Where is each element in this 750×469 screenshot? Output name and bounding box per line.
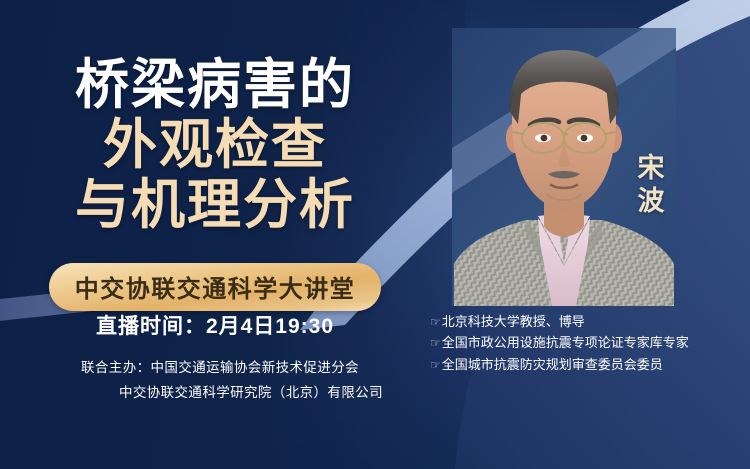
speaker-name-char-2: 波 [634, 185, 668, 218]
poster-title: 桥梁病害的 外观检查 与机理分析 [0, 58, 430, 232]
speaker-name: 宋 波 [634, 152, 668, 218]
pointing-hand-icon: ☞ [430, 334, 441, 353]
webinar-poster: 桥梁病害的 外观检查 与机理分析 中交协联交通科学大讲堂 直播时间：2月4日19… [0, 0, 750, 469]
title-line-1: 桥梁病害的 [0, 58, 430, 112]
pointing-hand-icon: ☞ [430, 313, 441, 332]
series-banner: 中交协联交通科学大讲堂 [0, 263, 430, 311]
credential-text-3: 全国城市抗震防灾规划审查委员会委员 [442, 354, 663, 375]
speaker-credentials: ☞ 北京科技大学教授、博导 ☞ 全国市政公用设施抗震专项论证专家库专家 ☞ 全国… [430, 311, 750, 375]
title-line-3: 与机理分析 [0, 178, 430, 232]
organizer-line-1: 联合主办：中国交通运输协会新技术促进分会 [0, 356, 440, 381]
credential-row-2: ☞ 全国市政公用设施抗震专项论证专家库专家 [430, 332, 750, 353]
title-line-2: 外观检查 [0, 118, 430, 172]
organizers-block: 联合主办：中国交通运输协会新技术促进分会 中交协联交通科学研究院（北京）有限公司 [0, 356, 440, 406]
credential-text-2: 全国市政公用设施抗震专项论证专家库专家 [442, 332, 689, 353]
speaker-name-char-1: 宋 [634, 152, 668, 185]
credential-text-1: 北京科技大学教授、博导 [442, 311, 585, 332]
credential-row-1: ☞ 北京科技大学教授、博导 [430, 311, 750, 332]
live-time-text: 直播时间：2月4日19:30 [0, 310, 430, 340]
organizer-line-2: 中交协联交通科学研究院（北京）有限公司 [0, 381, 440, 406]
pointing-hand-icon: ☞ [430, 356, 441, 375]
series-banner-label: 中交协联交通科学大讲堂 [49, 263, 382, 311]
credential-row-3: ☞ 全国城市抗震防灾规划审查委员会委员 [430, 354, 750, 375]
